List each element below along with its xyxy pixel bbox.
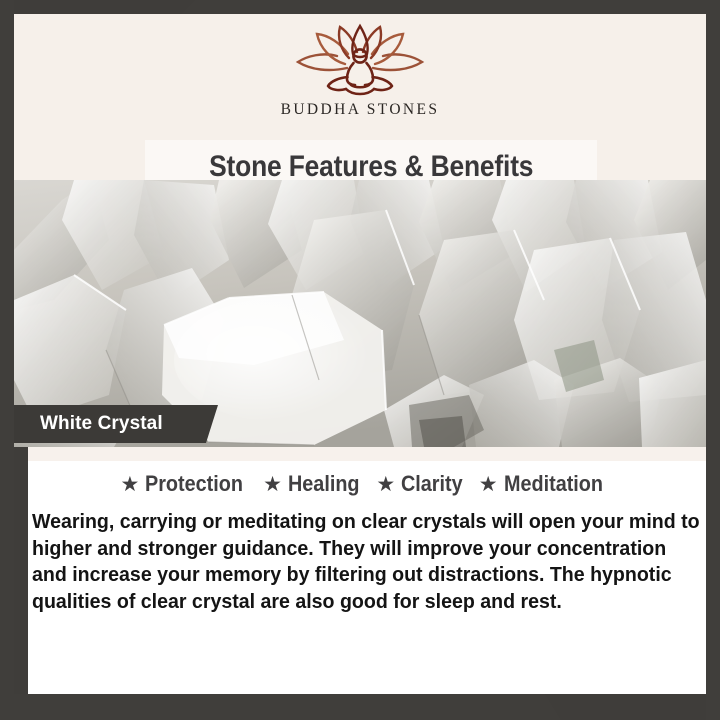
benefit-item: ★ Protection bbox=[120, 471, 254, 497]
left-border-bar bbox=[0, 0, 14, 720]
page-title: Stone Features & Benefits bbox=[209, 150, 533, 184]
stone-name-badge: White Crystal bbox=[14, 405, 218, 443]
star-icon: ★ bbox=[263, 474, 282, 495]
benefit-item: ★ Meditation bbox=[479, 471, 614, 497]
star-icon: ★ bbox=[120, 474, 139, 495]
content-top-strip bbox=[28, 447, 706, 461]
benefit-item: ★ Clarity bbox=[376, 471, 469, 497]
star-icon: ★ bbox=[479, 474, 498, 495]
stone-info-card: BUDDHA STONES Stone Features & Benefits bbox=[0, 0, 720, 720]
star-icon: ★ bbox=[376, 474, 395, 495]
lotus-meditation-icon bbox=[285, 20, 435, 98]
benefit-label: Clarity bbox=[401, 471, 463, 497]
benefit-label: Meditation bbox=[504, 471, 603, 497]
benefits-row: ★ Protection ★ Healing ★ Clarity ★ Medit… bbox=[28, 461, 706, 497]
brand-name: BUDDHA STONES bbox=[281, 101, 440, 119]
stone-description: Wearing, carrying or meditating on clear… bbox=[32, 509, 701, 616]
top-border-bar bbox=[0, 0, 720, 14]
brand-logo: BUDDHA STONES bbox=[14, 20, 706, 119]
benefit-label: Protection bbox=[145, 471, 243, 497]
benefit-item: ★ Healing bbox=[263, 471, 367, 497]
bottom-border-bar bbox=[0, 694, 720, 720]
stone-name-label: White Crystal bbox=[40, 413, 163, 435]
content-panel: ★ Protection ★ Healing ★ Clarity ★ Medit… bbox=[28, 461, 706, 694]
right-border-bar bbox=[706, 0, 720, 720]
benefit-label: Healing bbox=[288, 471, 360, 497]
card-header: BUDDHA STONES Stone Features & Benefits bbox=[14, 14, 706, 180]
